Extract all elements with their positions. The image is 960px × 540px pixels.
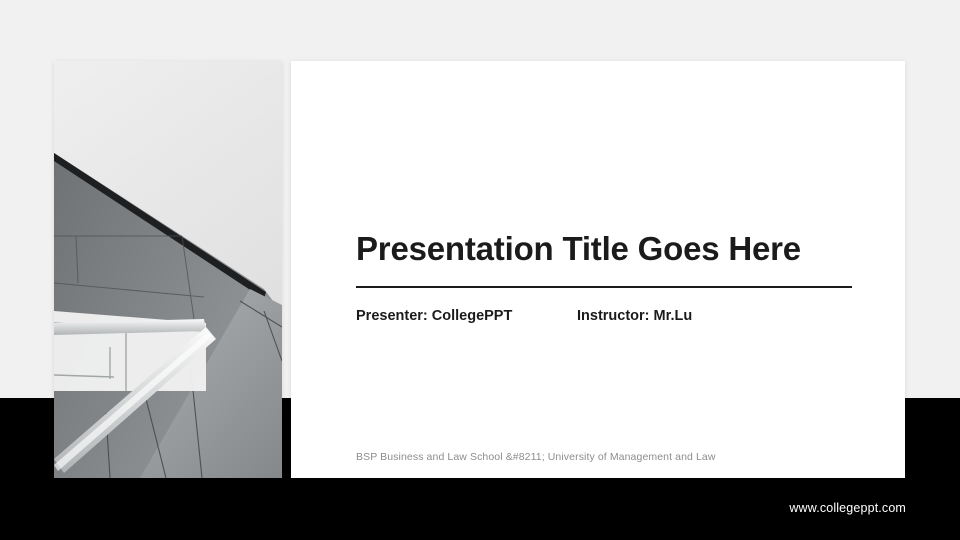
presenter-group: Presenter: CollegePPT <box>356 308 577 324</box>
website-url: www.collegeppt.com <box>789 501 906 515</box>
meta-row: Presenter: CollegePPT Instructor: Mr.Lu <box>356 308 853 324</box>
instructor-group: Instructor: Mr.Lu <box>577 308 692 324</box>
slide-footer-text: BSP Business and Law School &#8211; Univ… <box>356 451 716 463</box>
instructor-value: Mr.Lu <box>654 308 693 324</box>
title-divider <box>356 286 852 288</box>
presenter-value: CollegePPT <box>432 308 513 324</box>
presenter-label: Presenter: <box>356 308 428 324</box>
architecture-photo <box>54 61 282 478</box>
title-block: Presentation Title Goes Here Presenter: … <box>356 231 853 324</box>
page-title: Presentation Title Goes Here <box>356 231 853 268</box>
slide-card: Presentation Title Goes Here Presenter: … <box>291 61 905 478</box>
instructor-label: Instructor: <box>577 308 650 324</box>
